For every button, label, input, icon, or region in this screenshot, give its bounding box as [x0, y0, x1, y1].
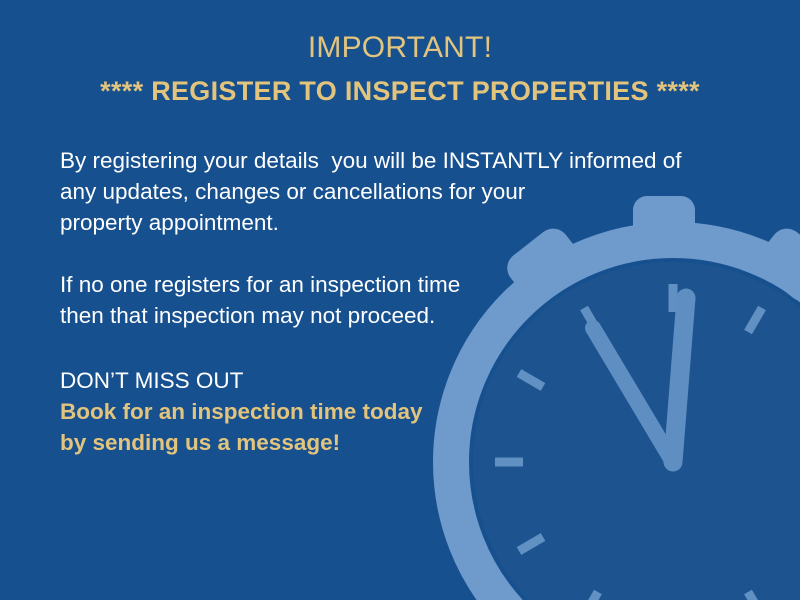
cta-line-1: Book for an inspection time today — [60, 396, 740, 427]
body-line: any updates, changes or cancellations fo… — [60, 176, 740, 207]
slide-content: IMPORTANT! **** REGISTER TO INSPECT PROP… — [0, 0, 800, 600]
page-subtitle: **** REGISTER TO INSPECT PROPERTIES **** — [0, 71, 800, 111]
body-line: By registering your details you will be … — [60, 145, 740, 176]
body-line: property appointment. — [60, 207, 740, 238]
promo-slide: IMPORTANT! **** REGISTER TO INSPECT PROP… — [0, 0, 800, 600]
body-line: then that inspection may not proceed. — [60, 300, 740, 331]
cta-line-2: by sending us a message! — [60, 427, 740, 458]
body-copy: By registering your details you will be … — [60, 145, 740, 331]
slide-title-block: IMPORTANT! **** REGISTER TO INSPECT PROP… — [0, 28, 800, 111]
cta-headline: DON’T MISS OUT — [60, 365, 740, 396]
call-to-action: DON’T MISS OUT Book for an inspection ti… — [60, 365, 740, 458]
body-line: If no one registers for an inspection ti… — [60, 269, 740, 300]
page-title: IMPORTANT! — [0, 28, 800, 68]
